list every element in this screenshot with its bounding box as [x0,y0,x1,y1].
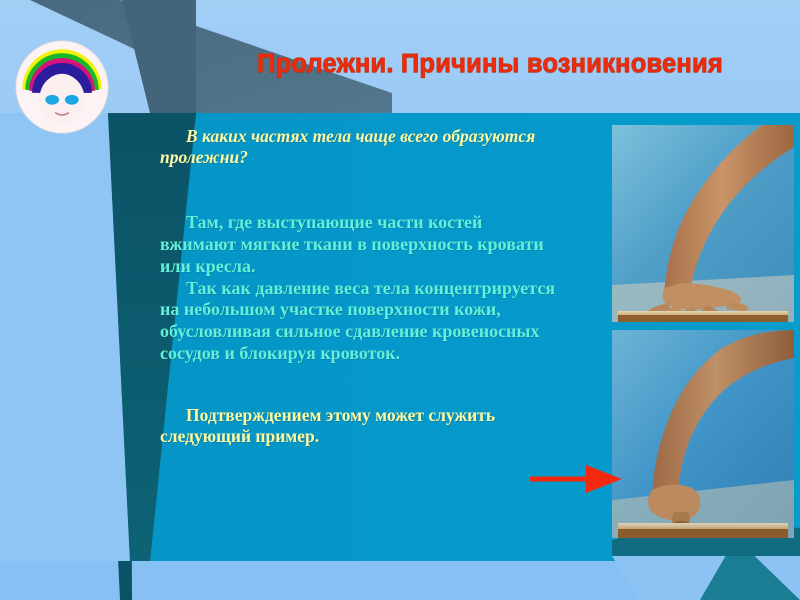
presentation-slide: Пролежни. Причины возникновения В каких … [0,0,800,600]
photo-knuckle-press-graphic [612,330,794,538]
body-paragraph-2: Так как давление веса тела концентрирует… [160,278,560,365]
arrow-head [586,465,622,493]
spacer-after-question [160,168,560,212]
photo1-board-edge [618,315,788,322]
slide-title: Пролежни. Причины возникновения [190,50,790,79]
spacer-before-closing [160,365,560,405]
slide-body-text: В каких частях тела чаще всего образуютс… [160,126,560,447]
left-light-panel [0,113,130,561]
logo-eye-left [45,95,59,105]
photo-flat-hand [612,125,794,322]
red-pointer-arrow [528,462,624,496]
question-paragraph: В каких частях тела чаще всего образуютс… [160,126,560,168]
body-paragraph-1: Там, где выступающие части костей вжимаю… [160,212,560,277]
photo2-board-edge [618,529,788,538]
photo-knuckle-press [612,330,794,538]
closing-paragraph: Подтверждением этому может служить следу… [160,405,560,447]
logo-eye-right [65,95,79,105]
round-face-logo [13,38,111,136]
photo-flat-hand-graphic [612,125,794,322]
